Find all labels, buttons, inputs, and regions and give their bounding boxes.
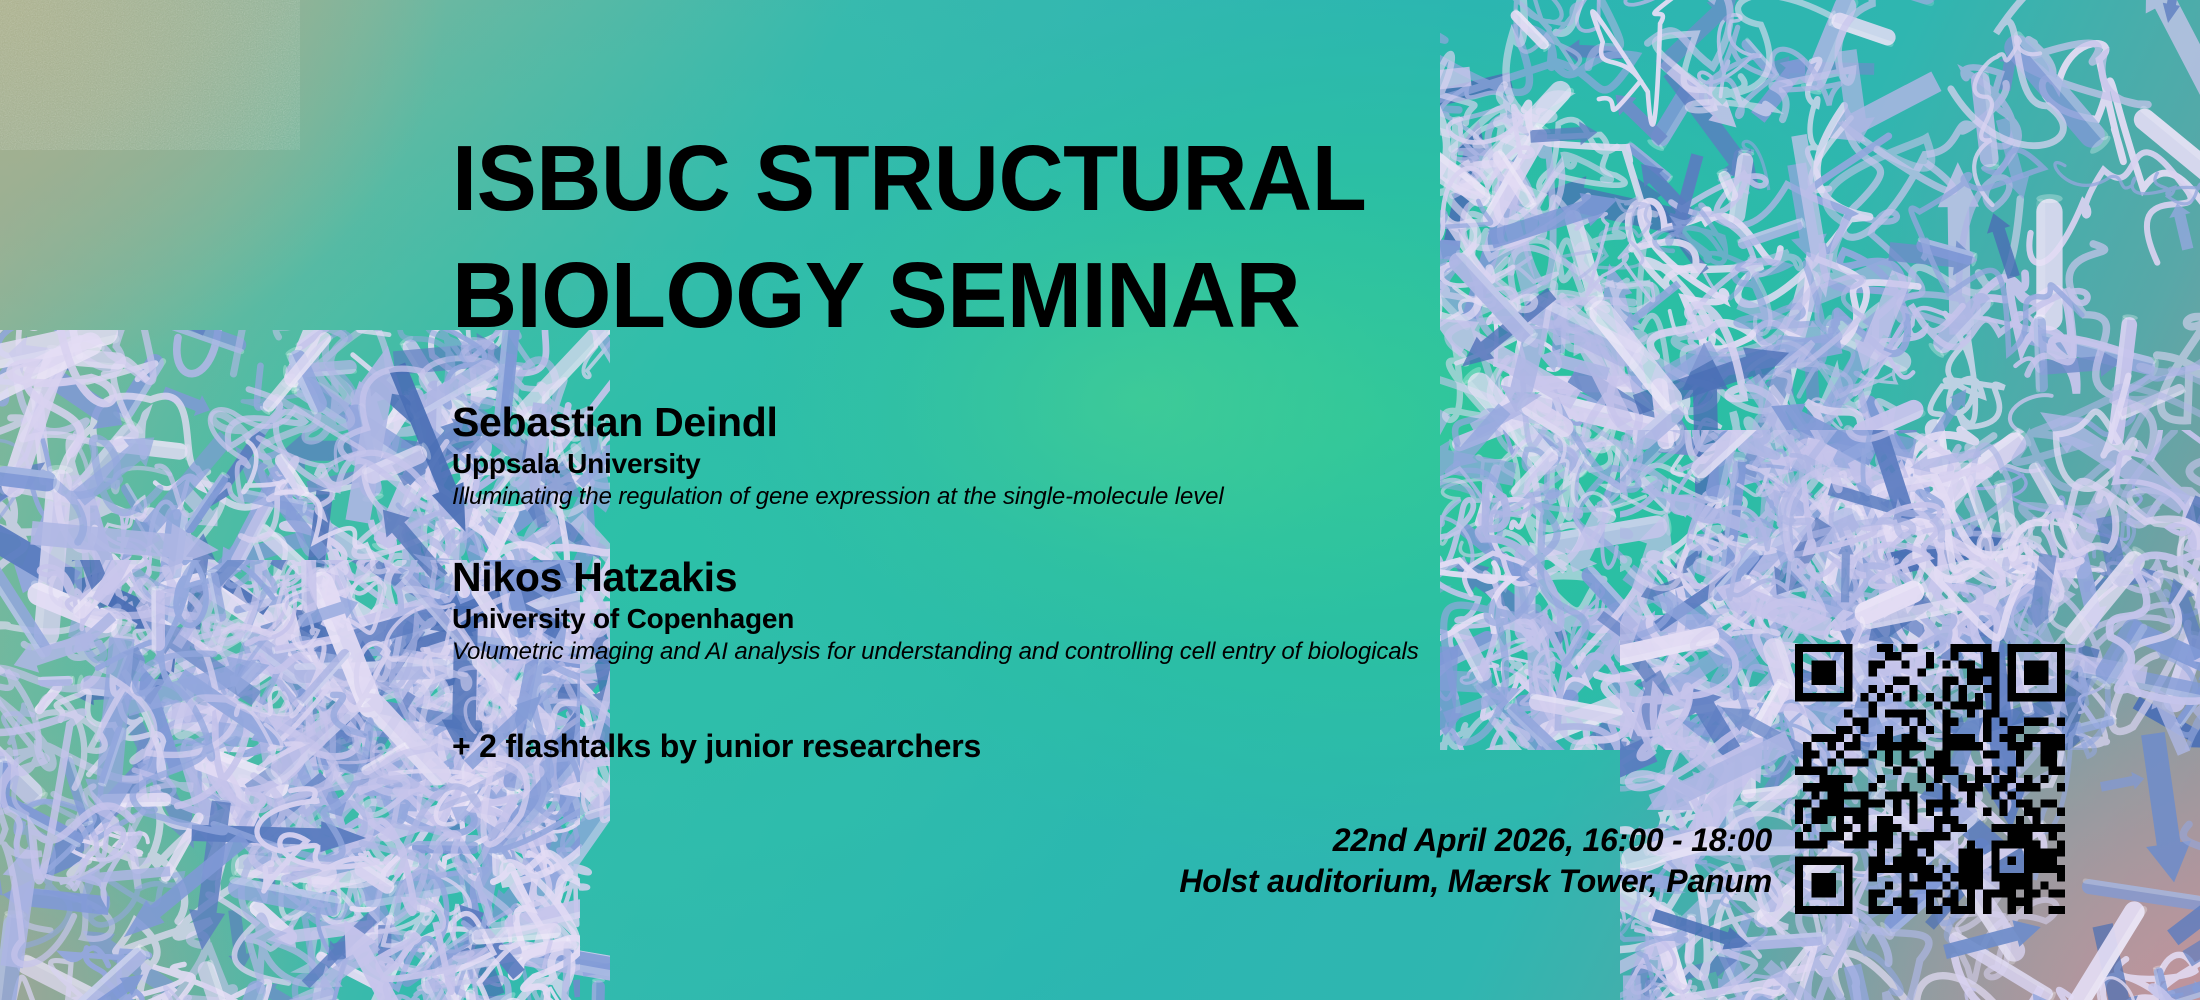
flashtalks-note: + 2 flashtalks by junior researchers [452,728,981,765]
speaker-entry-nikos-hatzakis: Nikos Hatzakis University of Copenhagen … [452,555,1702,667]
event-datetime: 22nd April 2026, 16:00 - 18:00 [452,820,1772,861]
page-title: ISBUC STRUCTURAL BIOLOGY SEMINAR [452,132,1552,342]
speaker-affiliation: Uppsala University [452,447,1702,480]
speaker-entry-sebastian-deindl: Sebastian Deindl Uppsala University Illu… [452,400,1702,512]
qr-code[interactable] [1795,644,2065,914]
seminar-poster: ISBUC STRUCTURAL BIOLOGY SEMINAR Sebasti… [0,0,2200,1000]
qr-code-image [1795,644,2065,914]
speaker-name: Sebastian Deindl [452,400,1702,444]
speaker-affiliation: University of Copenhagen [452,602,1702,635]
speaker-talk-title: Illuminating the regulation of gene expr… [452,483,1702,512]
event-venue: Holst auditorium, Mærsk Tower, Panum [452,861,1772,902]
event-details: 22nd April 2026, 16:00 - 18:00 Holst aud… [452,820,1772,902]
speaker-talk-title: Volumetric imaging and AI analysis for u… [452,638,1702,667]
grain-overlay [0,0,300,150]
title-line-1: ISBUC STRUCTURAL [452,132,1519,225]
poster-content: ISBUC STRUCTURAL BIOLOGY SEMINAR Sebasti… [452,0,1952,1000]
title-line-2: BIOLOGY SEMINAR [452,249,1519,342]
speaker-name: Nikos Hatzakis [452,555,1702,599]
